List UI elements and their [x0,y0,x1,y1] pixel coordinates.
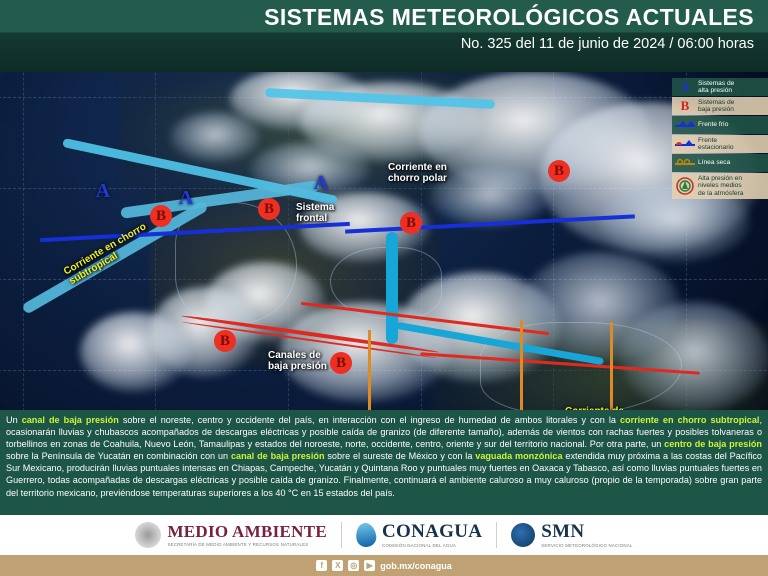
page-footer: MEDIO AMBIENTE SECRETARÍA DE MEDIO AMBIE… [0,515,768,555]
high-pressure-marker: A [310,172,332,194]
conagua-subtitle: COMISIÓN NACIONAL DEL AGUA [382,543,482,548]
low-level-current-north [386,232,398,344]
cold-front-icon [672,116,698,134]
low-pressure-marker: B [548,160,570,182]
letter-b-icon: B [672,97,698,115]
low-pressure-marker: B [214,330,236,352]
mexican-eagle-seal-icon [135,522,161,548]
low-pressure-marker: B [330,352,352,374]
tropical-wave-line-2 [520,320,523,410]
satellite-weather-map: A A A B B B B B B Corriente en chorro po… [0,72,768,410]
letter-a-icon: A [672,78,698,96]
legend-item-stationary-front: Frente estacionario [672,135,768,153]
forecast-summary-text: Un canal de baja presión sobre el norest… [6,414,762,499]
conagua-name: CONAGUA [382,522,482,541]
legend-item-low-pressure: B Sistemas de baja presión [672,97,768,115]
low-pressure-marker: B [400,212,422,234]
smn-subtitle: SERVICIO METEOROLÓGICO NACIONAL [541,543,632,548]
tropical-wave-line-3 [610,322,613,410]
map-label-polar-jet: Corriente en chorro polar [388,162,447,184]
low-pressure-marker: B [150,205,172,227]
forecast-summary-panel: Un canal de baja presión sobre el norest… [0,410,768,515]
high-pressure-marker: A [92,180,114,202]
footer-divider [341,522,342,548]
smn-logo-icon [511,523,535,547]
x-twitter-icon[interactable]: X [332,560,343,571]
conagua-brand: CONAGUA COMISIÓN NACIONAL DEL AGUA [356,522,482,548]
legend-label: Frente frío [698,121,730,128]
dry-line-icon [672,154,698,172]
map-label-low-pressure-channels: Canales de baja presión [268,350,327,372]
legend-label: Frente estacionario [698,137,736,152]
page-title: SISTEMAS METEOROLÓGICOS ACTUALES [264,4,754,31]
website-url[interactable]: gob.mx/conagua [380,561,452,571]
low-pressure-marker: B [258,198,280,220]
ministry-name: MEDIO AMBIENTE [167,523,327,540]
legend-label: Sistemas de alta presión [698,80,736,95]
stationary-front-icon [672,135,698,153]
mid-level-high-icon [672,177,698,195]
legend-item-mid-level-high: Alta presión en niveles medios de la atm… [672,173,768,199]
page-header: SISTEMAS METEOROLÓGICOS ACTUALES No. 325… [0,0,768,72]
legend-label: Sistemas de baja presión [698,99,736,114]
tropical-wave-line-1 [368,330,371,410]
smn-brand: SMN SERVICIO METEOROLÓGICO NACIONAL [511,522,632,548]
legend-item-high-pressure: A Sistemas de alta presión [672,78,768,96]
water-drop-icon [354,522,377,549]
instagram-icon[interactable]: ◎ [348,560,359,571]
high-pressure-marker: A [175,187,197,209]
legend-item-cold-front: Frente frío [672,116,768,134]
map-legend: A Sistemas de alta presión B Sistemas de… [672,78,768,200]
weather-bulletin-page: SISTEMAS METEOROLÓGICOS ACTUALES No. 325… [0,0,768,576]
facebook-icon[interactable]: f [316,560,327,571]
bulletin-number: No. 325 del 11 de junio de 2024 / 06:00 … [461,36,754,52]
legend-item-dry-line: Línea seca [672,154,768,172]
smn-name: SMN [541,522,632,541]
map-label-frontal-system: Sistema frontal [296,202,334,224]
legend-label: Línea seca [698,159,732,166]
footer-divider [496,522,497,548]
ministry-subtitle: SECRETARÍA DE MEDIO AMBIENTE Y RECURSOS … [167,542,327,547]
footer-social-bar: f X ◎ ▶ gob.mx/conagua [0,555,768,576]
youtube-icon[interactable]: ▶ [364,560,375,571]
ministry-brand: MEDIO AMBIENTE SECRETARÍA DE MEDIO AMBIE… [135,522,327,548]
legend-label: Alta presión en niveles medios de la atm… [698,175,745,197]
